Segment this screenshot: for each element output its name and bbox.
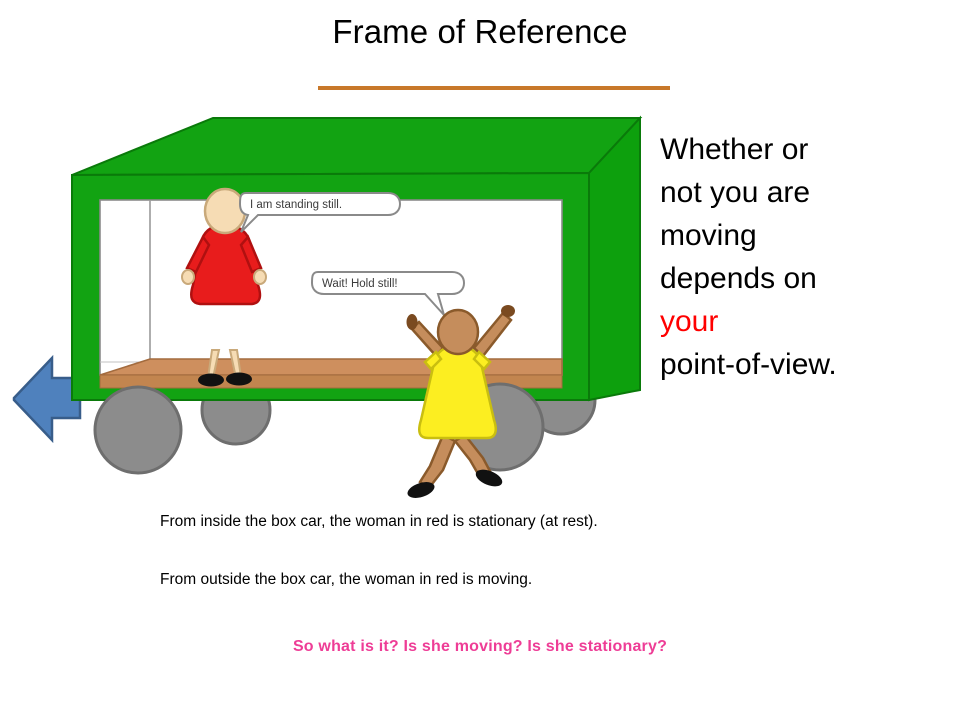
speech-bubble-2-text: Wait! Hold still! [322, 278, 398, 290]
motion-arrow-shape [14, 358, 80, 440]
woman-red-shoe-right [226, 373, 252, 386]
box-car-floor [100, 359, 562, 375]
woman-red-head [205, 189, 245, 233]
body-text-line-6: point-of-view. [660, 343, 942, 386]
motion-arrow-left [14, 358, 80, 440]
caption-inside-view: From inside the box car, the woman in re… [160, 512, 860, 532]
box-car-top-face [72, 118, 640, 175]
body-text-line-2: not you are [660, 171, 942, 214]
wheel-front-left [95, 387, 181, 473]
woman-red-shoe-left [198, 374, 224, 387]
box-car-illustration: I am standing still. Wait! Hold still! [0, 100, 700, 500]
page-title: Frame of Reference [0, 12, 960, 52]
body-text-line-3: moving [660, 214, 942, 257]
box-car-body [72, 118, 640, 400]
woman-yellow-hand-left [407, 314, 418, 330]
body-text-block: Whether or not you are moving depends on… [660, 128, 942, 386]
body-text-line-1: Whether or [660, 128, 942, 171]
woman-yellow-hand-right [501, 305, 515, 317]
title-divider [318, 86, 670, 90]
woman-yellow-head [438, 310, 478, 354]
body-text-highlight: your [660, 300, 942, 343]
woman-yellow-leg-left [420, 435, 455, 488]
woman-red-hand-left [182, 270, 194, 284]
caption-outside-view: From outside the box car, the woman in r… [160, 570, 860, 590]
body-text-line-4: depends on [660, 257, 942, 300]
speech-bubble-1-text: I am standing still. [250, 199, 342, 211]
woman-red-hand-right [254, 270, 266, 284]
caption-question: So what is it? Is she moving? Is she sta… [0, 638, 960, 656]
slide-canvas: Frame of Reference [0, 0, 960, 720]
